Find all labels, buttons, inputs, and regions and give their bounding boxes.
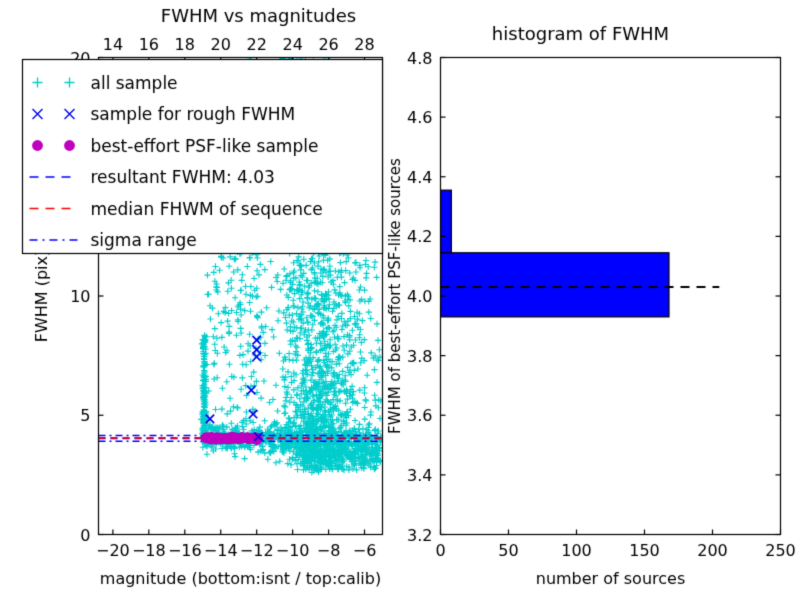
figure-container: FWHM vs magnitudes magnitude (bottom:isn…	[0, 0, 800, 600]
matplotlib-figure-canvas	[0, 0, 800, 600]
